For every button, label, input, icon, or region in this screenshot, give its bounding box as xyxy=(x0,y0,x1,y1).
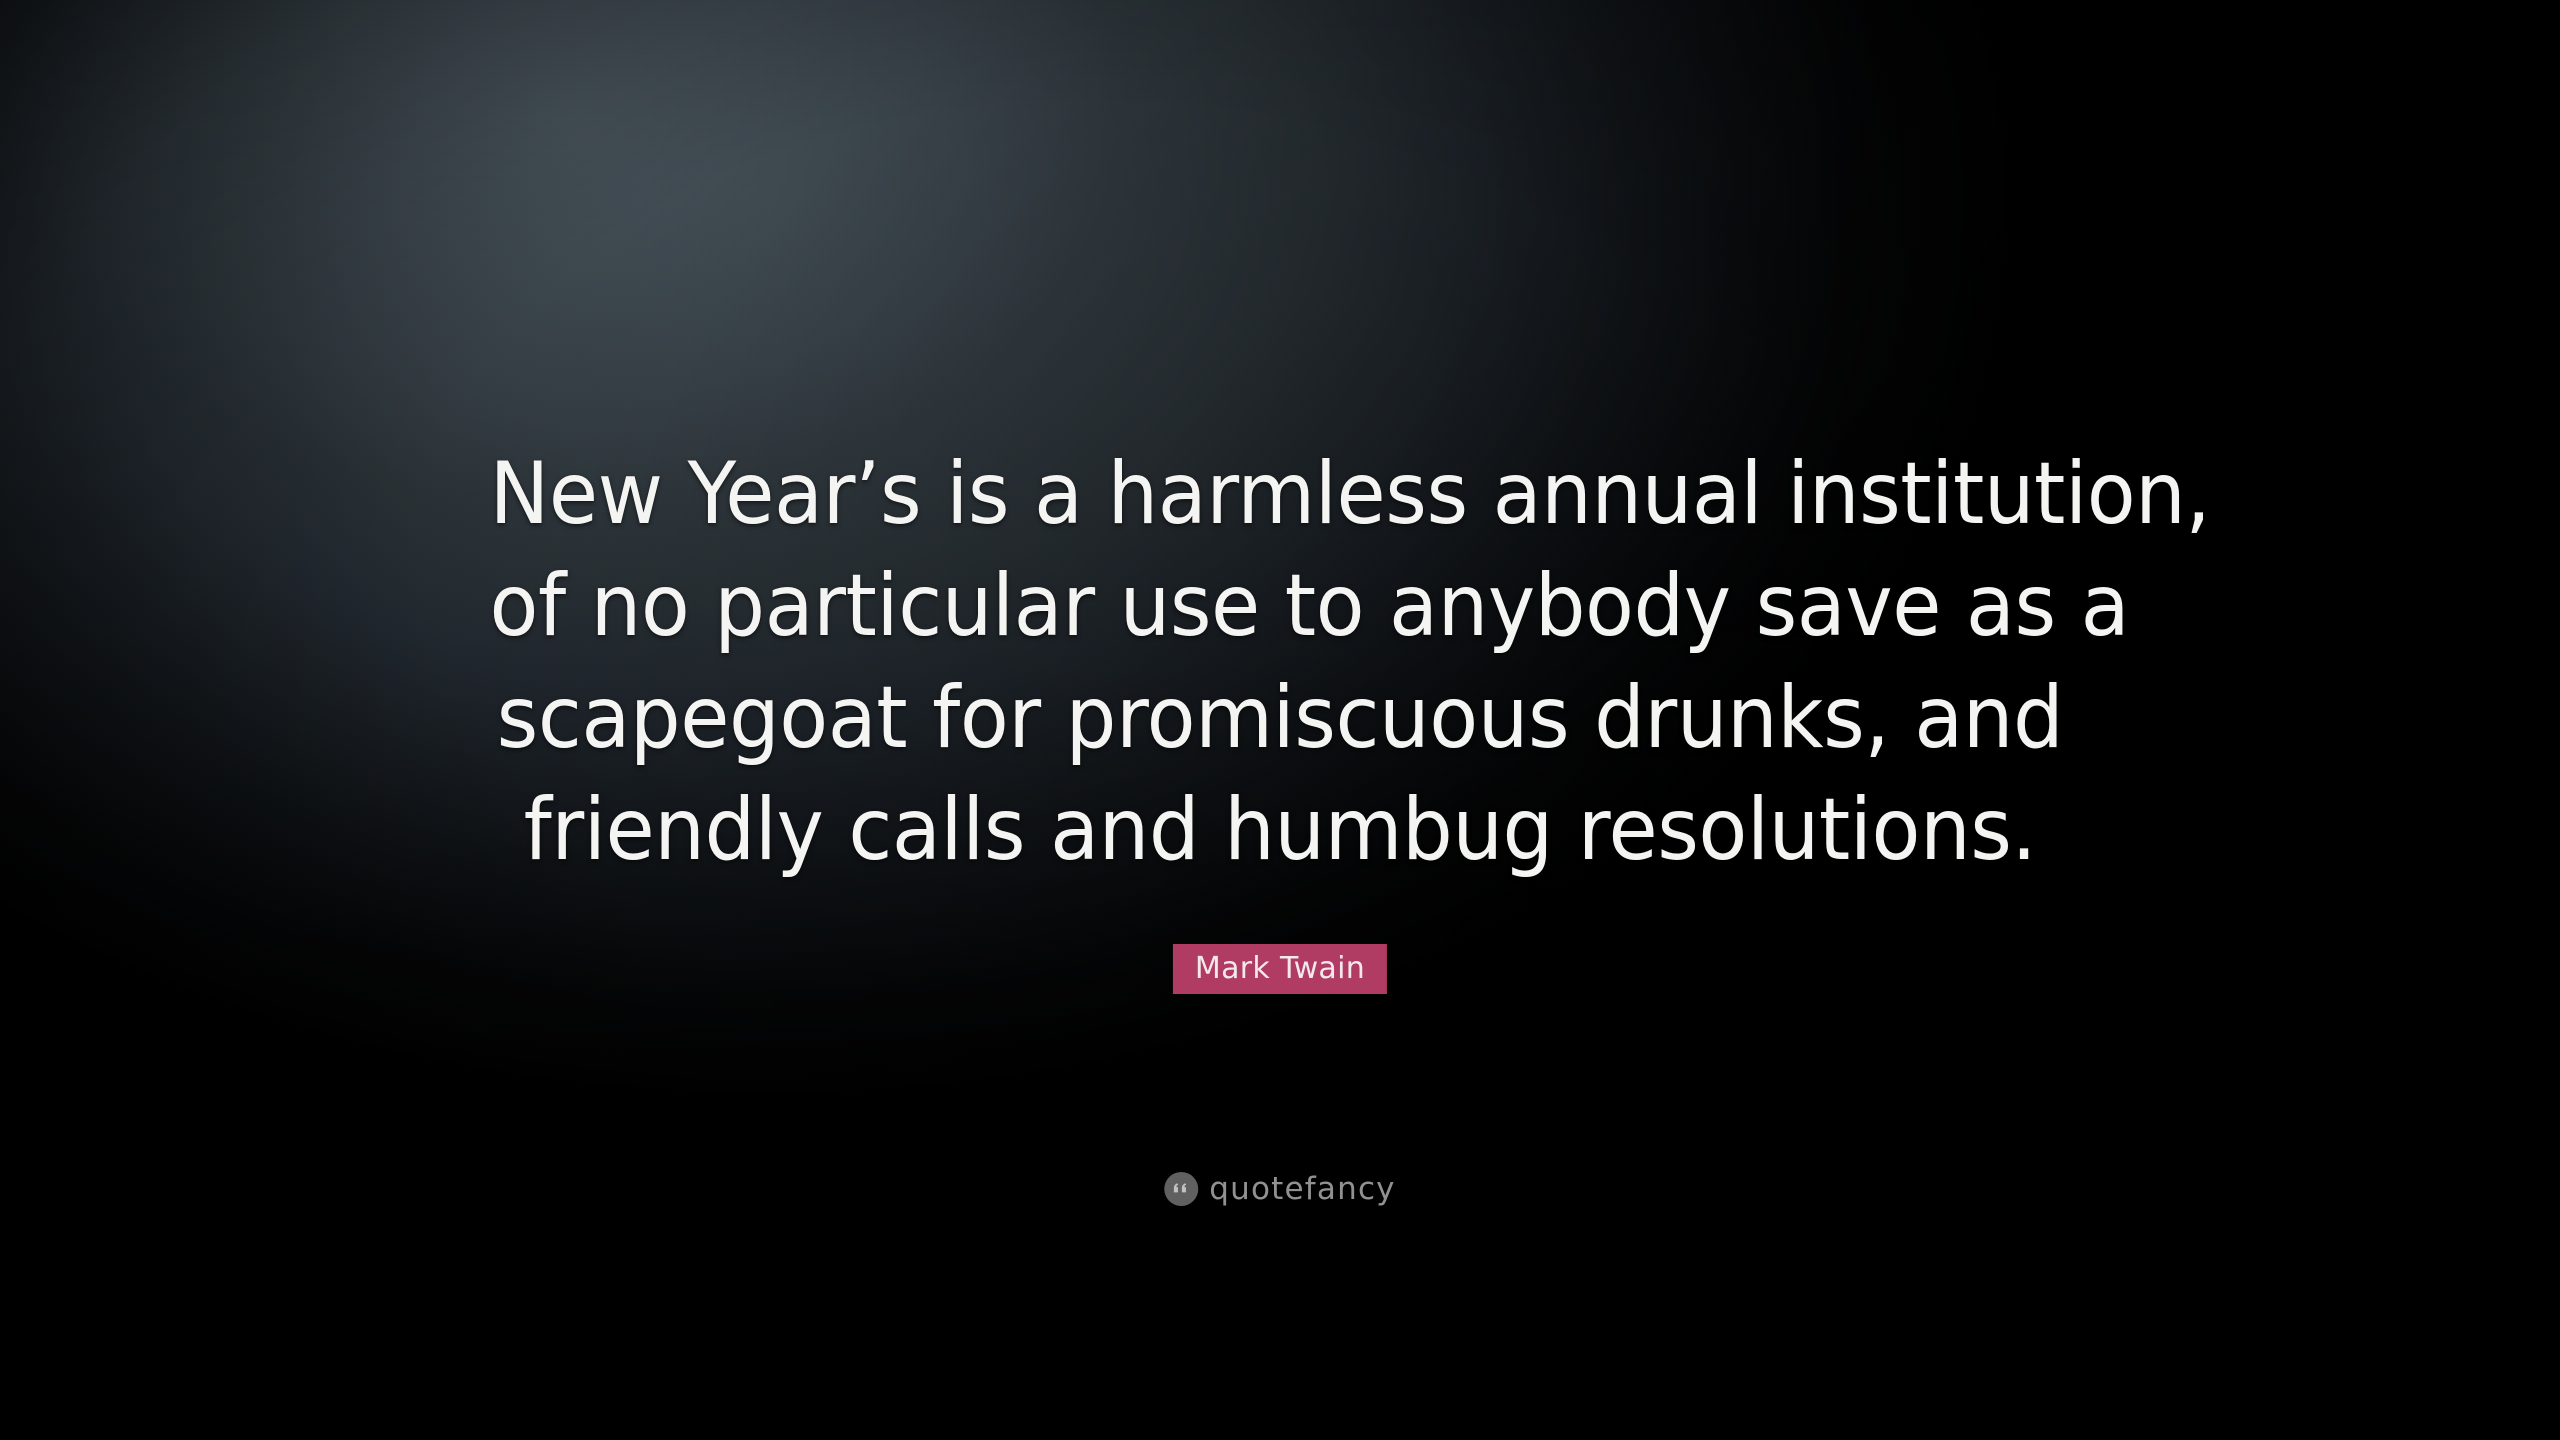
quote-mark-icon xyxy=(1164,1172,1198,1206)
author-attribution: Mark Twain xyxy=(1173,944,1387,994)
quote-line-3: scapegoat for promiscuous drunks, and xyxy=(490,662,2071,774)
quote-line-4: friendly calls and humbug resolutions. xyxy=(490,774,2071,886)
author-name-badge[interactable]: Mark Twain xyxy=(1173,944,1387,994)
quotefancy-brand-text: quotefancy xyxy=(1209,1174,1395,1205)
quote-line-2: of no particular use to anybody save as … xyxy=(490,550,2071,662)
quotefancy-watermark[interactable]: quotefancy xyxy=(1164,1172,1395,1206)
quote-poster: New Year’s is a harmless annual institut… xyxy=(0,0,2560,1440)
poster-content: New Year’s is a harmless annual institut… xyxy=(0,0,2560,1440)
quote-line-1: New Year’s is a harmless annual institut… xyxy=(490,438,2071,550)
quote-text-block: New Year’s is a harmless annual institut… xyxy=(430,438,2130,886)
